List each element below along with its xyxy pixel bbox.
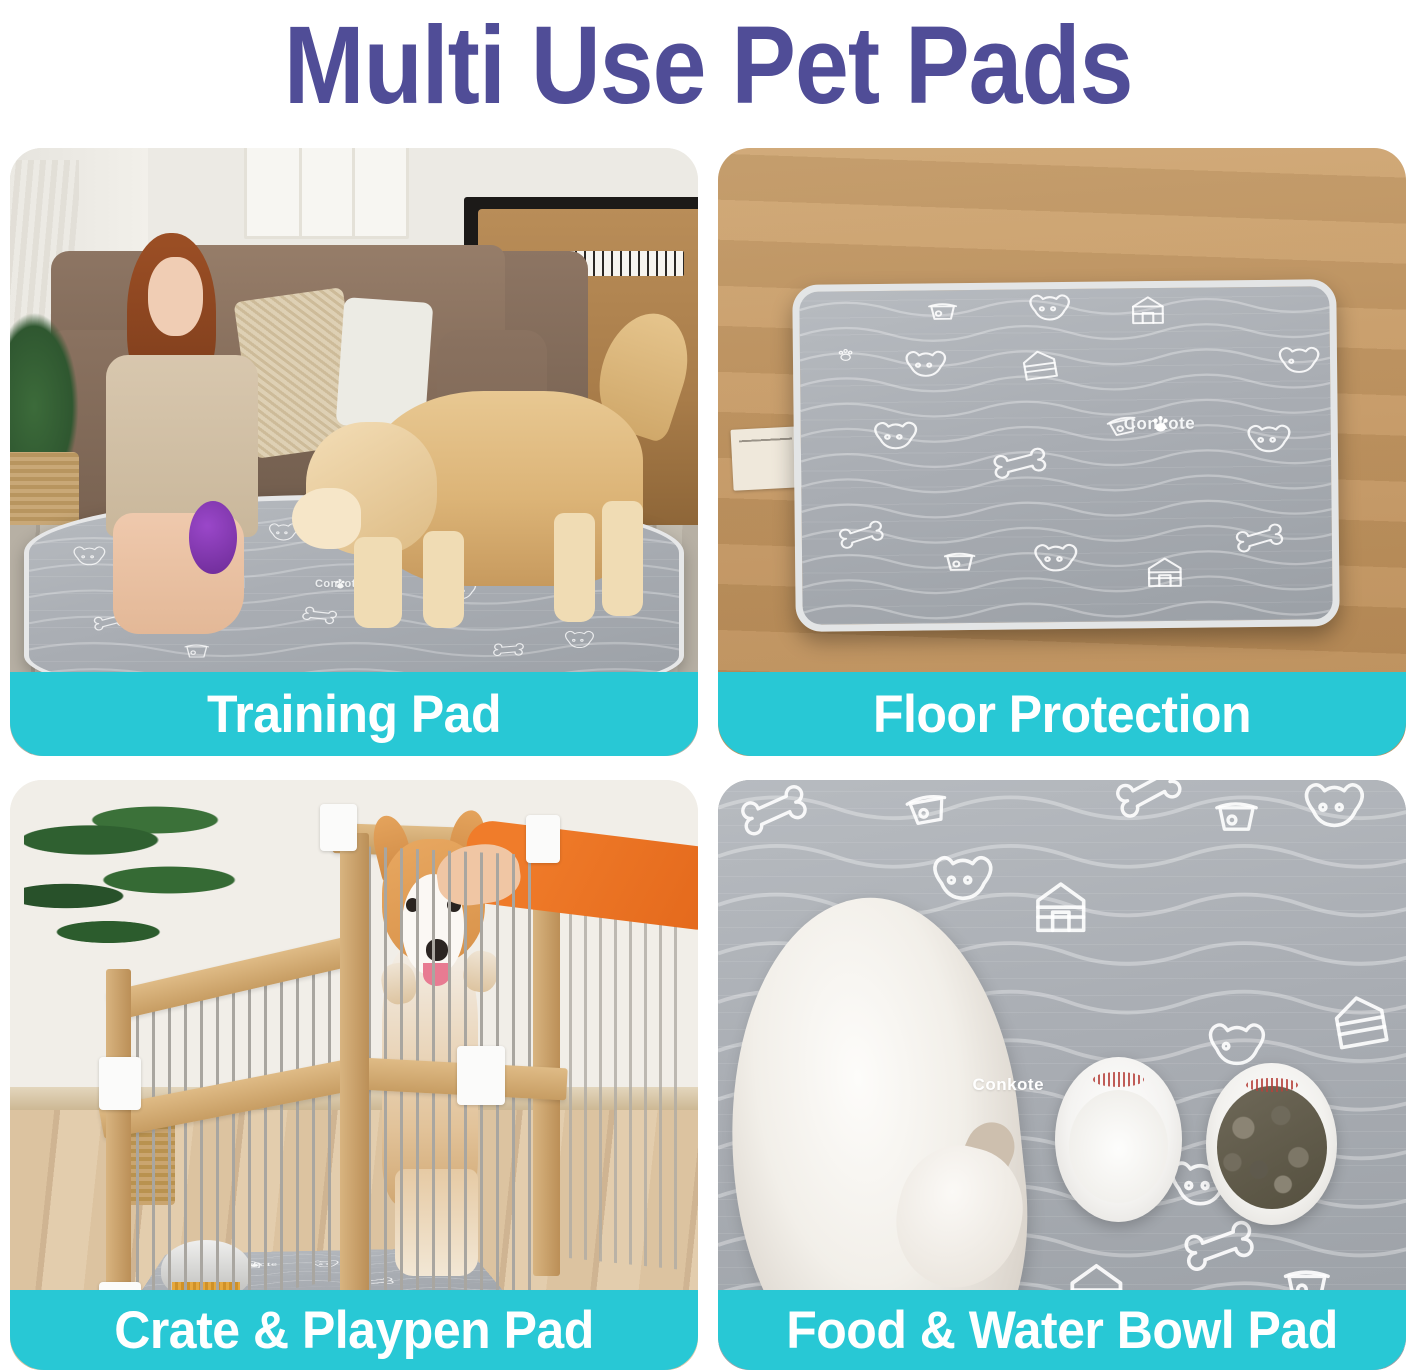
bowl-rim-decal [1093,1072,1144,1087]
playpen-post [106,969,131,1299]
food-bowl [1206,1063,1337,1225]
page-title: Multi Use Pet Pads [284,11,1133,121]
feature-card-floor-protection[interactable]: Conkote Floor Protection [718,148,1406,756]
girl-face [148,257,203,336]
feature-grid: Conkote Training Pad [0,132,1416,1370]
photo-food-water-bowl-pad: Conkote Conkote [718,780,1406,1370]
dog-leg [554,513,595,622]
dog-snout [292,488,361,549]
pad-brand-logo: Conkote [973,1075,1045,1095]
bowl-rim-decal [1246,1078,1298,1093]
care-tag [730,426,802,490]
page-header: Multi Use Pet Pads [0,0,1416,132]
caption-banner-food-water-bowl-pad: Food & Water Bowl Pad [718,1290,1406,1370]
girl-dress [106,355,257,537]
playpen-post [340,833,369,1329]
pet-pad-floor-protection: Conkote [792,279,1339,631]
photo-crate-playpen-pad: Conkote [10,780,698,1370]
purple-ball-toy [189,501,237,574]
caption-label: Floor Protection [873,688,1251,741]
playpen-bars [120,959,347,1322]
pad-brand-text: Conkote [973,1075,1045,1095]
feature-card-crate-playpen-pad[interactable]: Conkote [10,780,698,1370]
playpen-connector [457,1046,505,1105]
window [244,148,409,239]
playpen-connector [320,804,358,851]
palm-plant [24,792,258,993]
caption-label: Crate & Playpen Pad [114,1304,594,1357]
dog-leg [354,537,402,628]
pad-brand-logo: Conkote [1123,414,1199,435]
dog-leg [423,531,464,628]
photo-floor-protection: Conkote [718,148,1406,756]
playpen-connector [526,815,560,862]
houseplant [10,312,79,470]
feature-card-food-water-bowl-pad[interactable]: Conkote Conkote Food & Water Bowl Pad [718,780,1406,1370]
dog-leg [602,501,643,617]
caption-banner-training-pad: Training Pad [10,672,698,756]
feature-card-training-pad[interactable]: Conkote Training Pad [10,148,698,756]
caption-banner-floor-protection: Floor Protection [718,672,1406,756]
photo-training-pad: Conkote [10,148,698,756]
caption-label: Training Pad [207,688,501,741]
playpen-bars [554,868,678,1270]
water-bowl [1055,1057,1182,1222]
caption-banner-crate-playpen-pad: Crate & Playpen Pad [10,1290,698,1370]
caption-label: Food & Water Bowl Pad [786,1304,1338,1357]
playpen-connector [99,1057,140,1110]
